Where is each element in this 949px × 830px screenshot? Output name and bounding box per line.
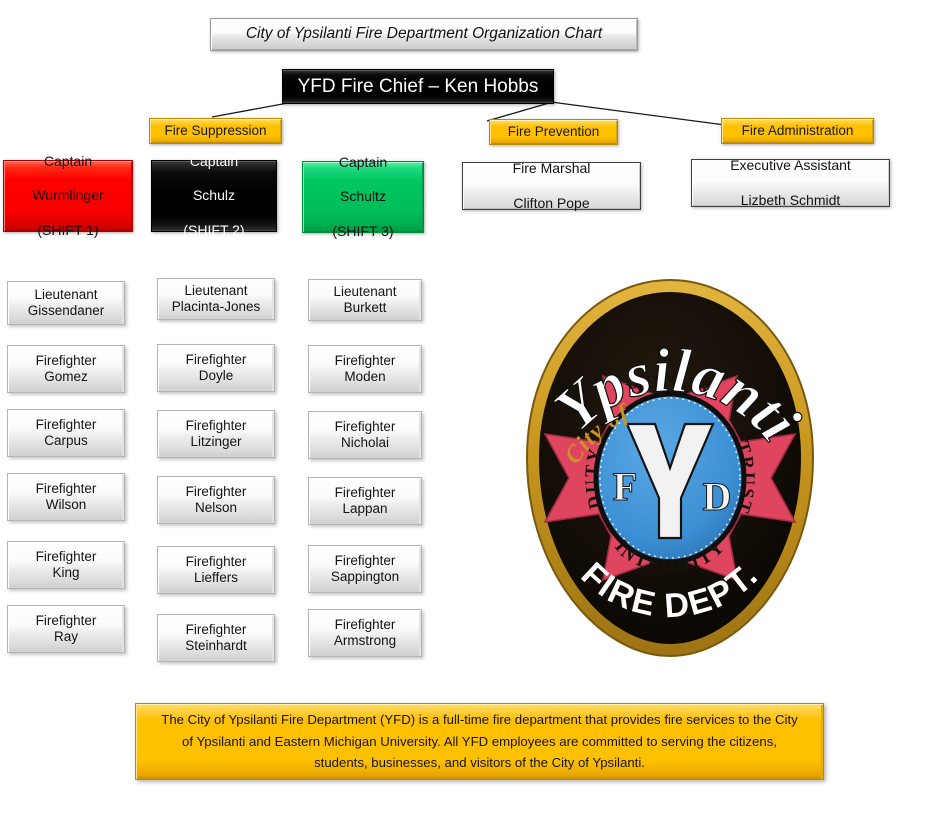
roster-card-name: Gomez [36, 369, 97, 385]
roster-card-text: FirefighterSteinhardt [185, 622, 247, 655]
roster-card-text: FirefighterNelson [186, 484, 247, 517]
division-fire-prevention[interactable]: Fire Prevention [489, 119, 618, 145]
roster-card-rank: Firefighter [186, 484, 247, 500]
captain-shift-1[interactable]: Captain Wurmlinger (SHIFT 1) [3, 160, 133, 232]
roster-card[interactable]: LieutenantBurkett [308, 279, 422, 321]
executive-assistant-name: Lizbeth Schmidt [730, 192, 851, 209]
roster-card-rank: Firefighter [186, 352, 247, 368]
captain-shift-3-rank: Captain [332, 154, 393, 171]
roster-card-rank: Firefighter [335, 419, 396, 435]
roster-card-text: FirefighterLieffers [186, 554, 247, 587]
roster-card-name: Ray [36, 629, 97, 645]
captain-shift-2-name: Schulz [183, 187, 244, 204]
chart-title: City of Ypsilanti Fire Department Organi… [210, 18, 638, 51]
roster-card-text: FirefighterArmstrong [334, 617, 396, 650]
org-chart-canvas: City of Ypsilanti Fire Department Organi… [0, 0, 949, 830]
roster-card[interactable]: FirefighterLieffers [157, 546, 275, 594]
captain-shift-3[interactable]: Captain Schultz (SHIFT 3) [302, 161, 424, 233]
roster-card-text: FirefighterDoyle [186, 352, 247, 385]
captain-shift-1-name: Wurmlinger [32, 187, 103, 204]
roster-card-rank: Lieutenant [333, 284, 396, 300]
roster-card-text: FirefighterLappan [335, 485, 396, 518]
roster-card-rank: Firefighter [36, 549, 97, 565]
roster-card-text: FirefighterCarpus [36, 417, 97, 450]
fire-marshal-text: Fire Marshal Clifton Pope [513, 143, 591, 228]
executive-assistant-text: Executive Assistant Lizbeth Schmidt [730, 140, 851, 225]
roster-card[interactable]: FirefighterCarpus [7, 409, 125, 457]
executive-assistant-box[interactable]: Executive Assistant Lizbeth Schmidt [691, 159, 890, 207]
roster-card-name: Litzinger [186, 434, 247, 450]
roster-card-text: FirefighterKing [36, 549, 97, 582]
roster-card[interactable]: FirefighterRay [7, 605, 125, 653]
roster-card-rank: Lieutenant [28, 287, 105, 303]
roster-card[interactable]: FirefighterNelson [157, 476, 275, 524]
roster-card-rank: Firefighter [331, 553, 399, 569]
roster-card-name: Placinta-Jones [172, 299, 261, 315]
mission-statement-text: The City of Ypsilanti Fire Department (Y… [154, 709, 805, 773]
roster-card[interactable]: LieutenantPlacinta-Jones [157, 278, 275, 320]
roster-card-rank: Firefighter [36, 613, 97, 629]
roster-card-rank: Firefighter [36, 417, 97, 433]
roster-card-rank: Firefighter [36, 481, 97, 497]
captain-shift-1-text: Captain Wurmlinger (SHIFT 1) [32, 136, 103, 256]
roster-card-name: Moden [335, 369, 396, 385]
roster-card[interactable]: FirefighterNicholai [308, 411, 422, 459]
patch-letter-f: F [613, 464, 637, 509]
roster-card[interactable]: FirefighterDoyle [157, 344, 275, 392]
roster-card-rank: Firefighter [335, 485, 396, 501]
fire-marshal-box[interactable]: Fire Marshal Clifton Pope [462, 162, 641, 210]
roster-card-rank: Lieutenant [172, 283, 261, 299]
captain-shift-1-shift: (SHIFT 1) [32, 222, 103, 239]
captain-shift-2[interactable]: Captain Schulz (SHIFT 2) [151, 160, 277, 232]
roster-card-text: FirefighterModen [335, 353, 396, 386]
captain-shift-3-name: Schultz [332, 188, 393, 205]
roster-card[interactable]: FirefighterKing [7, 541, 125, 589]
roster-card-text: LieutenantBurkett [333, 284, 396, 317]
roster-card[interactable]: FirefighterWilson [7, 473, 125, 521]
roster-card-rank: Firefighter [186, 418, 247, 434]
roster-card-name: Gissendaner [28, 303, 105, 319]
captain-shift-3-shift: (SHIFT 3) [332, 223, 393, 240]
roster-card-name: Nelson [186, 500, 247, 516]
captain-shift-3-text: Captain Schultz (SHIFT 3) [332, 137, 393, 257]
roster-card[interactable]: FirefighterGomez [7, 345, 125, 393]
roster-card-name: Doyle [186, 368, 247, 384]
roster-card-name: Wilson [36, 497, 97, 513]
fire-chief-label: YFD Fire Chief – Ken Hobbs [298, 75, 539, 98]
roster-card-text: FirefighterRay [36, 613, 97, 646]
roster-card-text: LieutenantGissendaner [28, 287, 105, 320]
captain-shift-2-text: Captain Schulz (SHIFT 2) [183, 136, 244, 256]
captain-shift-1-rank: Captain [32, 153, 103, 170]
division-fire-prevention-label: Fire Prevention [508, 124, 600, 140]
roster-card-rank: Firefighter [36, 353, 97, 369]
roster-card-name: Armstrong [334, 633, 396, 649]
roster-card-rank: Firefighter [185, 622, 247, 638]
roster-card[interactable]: FirefighterLitzinger [157, 410, 275, 458]
roster-card-name: Sappington [331, 569, 399, 585]
ypsilanti-fd-patch: Y F D HONOR INTEGRITY DUTY TRUST City of… [505, 272, 835, 664]
roster-card-name: Burkett [333, 300, 396, 316]
captain-shift-2-rank: Captain [183, 153, 244, 170]
roster-card-name: King [36, 565, 97, 581]
roster-card-rank: Firefighter [186, 554, 247, 570]
roster-card-text: FirefighterLitzinger [186, 418, 247, 451]
roster-card-name: Steinhardt [185, 638, 247, 654]
roster-card-text: FirefighterWilson [36, 481, 97, 514]
connector-chief-to-suppression [212, 103, 288, 117]
roster-card-name: Carpus [36, 433, 97, 449]
roster-card[interactable]: FirefighterArmstrong [308, 609, 422, 657]
executive-assistant-title: Executive Assistant [730, 157, 851, 174]
roster-card-text: FirefighterSappington [331, 553, 399, 586]
roster-card[interactable]: FirefighterLappan [308, 477, 422, 525]
roster-card-name: Nicholai [335, 435, 396, 451]
mission-statement-box: The City of Ypsilanti Fire Department (Y… [135, 703, 824, 780]
captain-shift-2-shift: (SHIFT 2) [183, 222, 244, 239]
roster-card[interactable]: FirefighterSappington [308, 545, 422, 593]
roster-card[interactable]: LieutenantGissendaner [7, 281, 125, 325]
roster-card-text: FirefighterNicholai [335, 419, 396, 452]
roster-card-rank: Firefighter [335, 353, 396, 369]
fire-marshal-name: Clifton Pope [513, 195, 591, 212]
roster-card-name: Lieffers [186, 570, 247, 586]
roster-card[interactable]: FirefighterModen [308, 345, 422, 393]
chart-title-text: City of Ypsilanti Fire Department Organi… [246, 25, 602, 44]
roster-card-text: LieutenantPlacinta-Jones [172, 283, 261, 316]
division-fire-administration-label: Fire Administration [742, 123, 854, 139]
fire-chief-box[interactable]: YFD Fire Chief – Ken Hobbs [282, 69, 554, 104]
fire-marshal-title: Fire Marshal [513, 160, 591, 177]
roster-card[interactable]: FirefighterSteinhardt [157, 614, 275, 662]
roster-card-rank: Firefighter [334, 617, 396, 633]
roster-card-name: Lappan [335, 501, 396, 517]
roster-card-text: FirefighterGomez [36, 353, 97, 386]
patch-letter-d: D [703, 474, 732, 519]
